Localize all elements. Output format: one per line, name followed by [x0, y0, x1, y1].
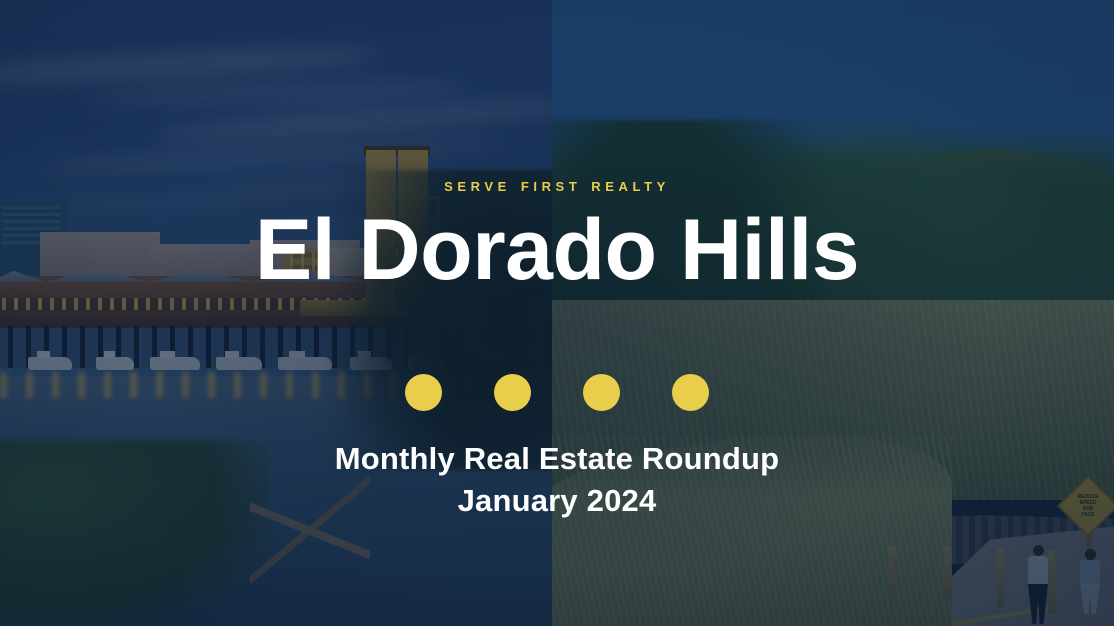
gold-dot: [494, 374, 531, 411]
gold-dot: [405, 374, 442, 411]
brand-tagline: Serve First Realty: [444, 176, 670, 195]
slide-content: Serve First Realty El Dorado Hills Month…: [0, 0, 1114, 626]
presentation-slide: REDUCE SPEED AND PASS Serve First Realty: [0, 0, 1114, 626]
decorative-dot-row: [405, 374, 709, 411]
slide-date: January 2024: [458, 483, 657, 519]
gold-dot: [672, 374, 709, 411]
page-title: El Dorado Hills: [255, 207, 859, 295]
gold-dot: [583, 374, 620, 411]
slide-subtitle: Monthly Real Estate Roundup: [335, 439, 780, 479]
